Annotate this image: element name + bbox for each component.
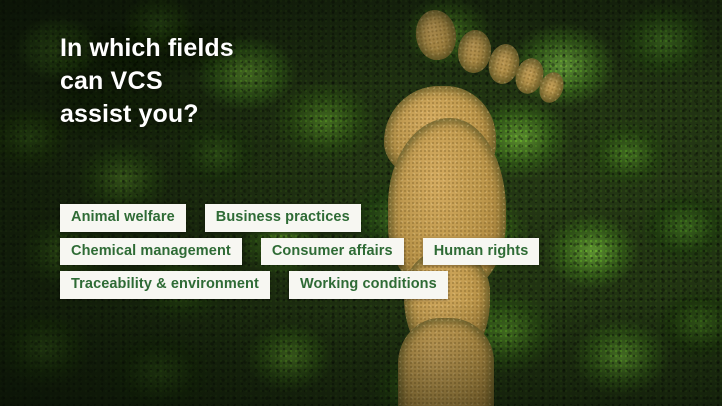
page-title: In which fields can VCS assist you?: [60, 32, 400, 131]
headline-line-2: can VCS: [60, 65, 400, 98]
chip-row-3: Traceability & environment Working condi…: [60, 271, 620, 299]
chip-animal-welfare[interactable]: Animal welfare: [60, 204, 186, 232]
brand-name-vcs: VCS: [110, 67, 163, 95]
headline-line-3: assist you?: [60, 98, 400, 131]
chip-human-rights[interactable]: Human rights: [423, 238, 540, 266]
chip-chemical-management[interactable]: Chemical management: [60, 238, 242, 266]
chip-working-conditions[interactable]: Working conditions: [289, 271, 448, 299]
headline-line-2-prefix: can: [60, 67, 110, 95]
chip-business-practices[interactable]: Business practices: [205, 204, 361, 232]
slide-canvas: In which fields can VCS assist you? Anim…: [0, 0, 722, 406]
chip-traceability-environment[interactable]: Traceability & environment: [60, 271, 270, 299]
headline-line-1: In which fields: [60, 32, 400, 65]
chip-row-2: Chemical management Consumer affairs Hum…: [60, 238, 620, 266]
chip-row-1: Animal welfare Business practices: [60, 204, 620, 232]
chip-consumer-affairs[interactable]: Consumer affairs: [261, 238, 404, 266]
slide-content: In which fields can VCS assist you? Anim…: [0, 0, 722, 406]
field-chip-group: Animal welfare Business practices Chemic…: [60, 204, 620, 305]
